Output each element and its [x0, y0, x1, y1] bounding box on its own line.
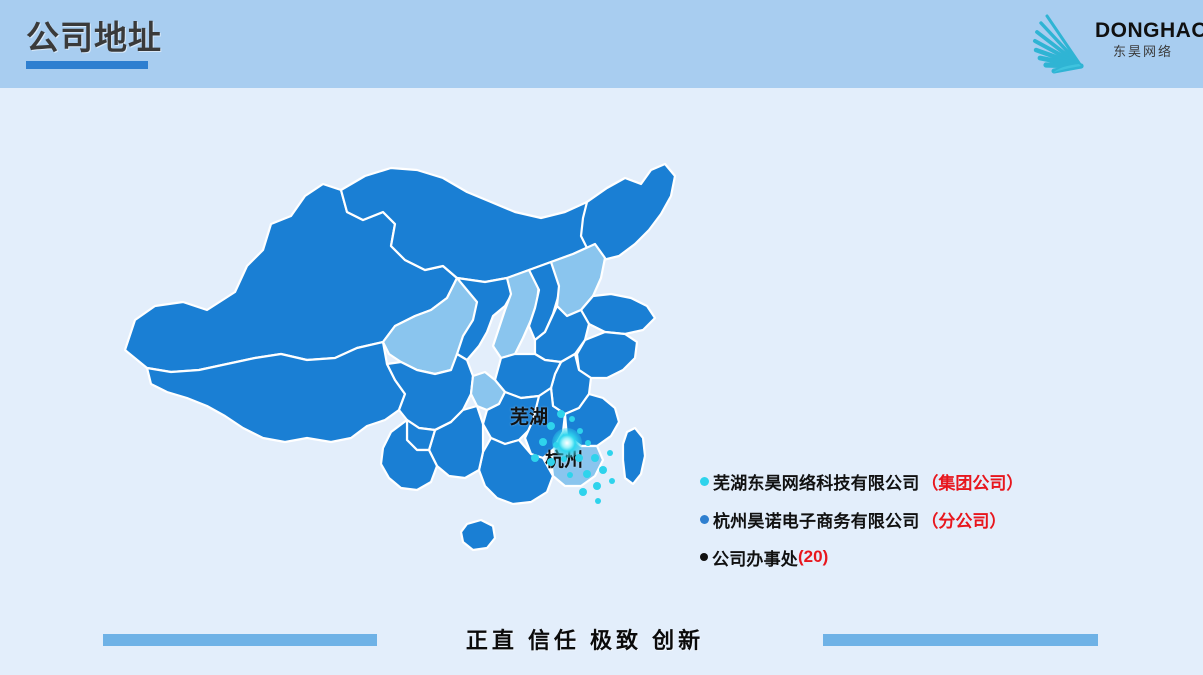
region-hainan [461, 520, 495, 550]
marker-office[interactable] [575, 454, 583, 462]
legend-item-note: （集团公司） [921, 469, 1023, 494]
legend-item-label: 公司办事处 [712, 545, 798, 570]
legend-bullet-icon [700, 515, 709, 524]
marker-office[interactable] [569, 416, 575, 422]
logo-name: DONGHAO [1095, 20, 1191, 42]
marker-office[interactable] [531, 454, 539, 462]
company-logo[interactable]: DONGHAO 东昊网络 [1021, 8, 1191, 78]
marker-office[interactable] [595, 498, 601, 504]
feather-fan-icon [1029, 10, 1095, 76]
marker-office[interactable] [577, 428, 583, 434]
marker-office[interactable] [599, 466, 607, 474]
legend-bullet-icon [700, 477, 709, 486]
region-taiwan [623, 428, 645, 484]
title-underline [26, 61, 148, 69]
logo-text-block: DONGHAO 东昊网络 [1095, 20, 1191, 61]
footer-bar-right [823, 634, 1098, 646]
region-jiangsu [577, 332, 637, 378]
marker-office[interactable] [591, 454, 599, 462]
marker-office[interactable] [557, 410, 565, 418]
legend: 芜湖东昊网络科技有限公司 （集团公司） 杭州昊诺电子商务有限公司 （分公司） 公… [700, 462, 1120, 576]
legend-item-note: (20) [798, 547, 828, 567]
footer-slogan: 正直 信任 极致 创新 [440, 623, 730, 655]
marker-office[interactable] [593, 482, 601, 490]
map-label-wuhu: 芜湖 [510, 402, 548, 429]
marker-office[interactable] [583, 470, 591, 478]
marker-office[interactable] [567, 472, 573, 478]
page-title-block: 公司地址 [26, 18, 162, 69]
legend-item-label: 芜湖东昊网络科技有限公司 [713, 469, 919, 494]
legend-item-offices[interactable]: 公司办事处 (20) [700, 538, 1120, 576]
marker-office[interactable] [585, 440, 591, 446]
marker-office[interactable] [561, 456, 567, 462]
marker-office[interactable] [547, 458, 555, 466]
page-title: 公司地址 [26, 18, 162, 58]
footer-bar-left [103, 634, 377, 646]
china-map-svg [95, 120, 685, 610]
marker-office[interactable] [553, 442, 559, 448]
legend-bullet-icon [700, 553, 708, 561]
region-shandong [581, 294, 655, 334]
china-map[interactable]: 芜湖 杭州 [95, 120, 685, 610]
marker-office[interactable] [547, 422, 555, 430]
marker-office[interactable] [579, 488, 587, 496]
marker-office[interactable] [539, 438, 547, 446]
logo-subtitle: 东昊网络 [1095, 43, 1191, 61]
legend-item-group-company[interactable]: 芜湖东昊网络科技有限公司 （集团公司） [700, 462, 1120, 500]
legend-item-branch-company[interactable]: 杭州昊诺电子商务有限公司 （分公司） [700, 500, 1120, 538]
slide-canvas: 公司地址 DONGHAO [0, 0, 1203, 675]
legend-item-label: 杭州昊诺电子商务有限公司 [713, 507, 919, 532]
legend-item-note: （分公司） [921, 507, 1006, 532]
marker-office[interactable] [607, 450, 613, 456]
header-band: 公司地址 DONGHAO [0, 0, 1203, 88]
marker-office[interactable] [609, 478, 615, 484]
